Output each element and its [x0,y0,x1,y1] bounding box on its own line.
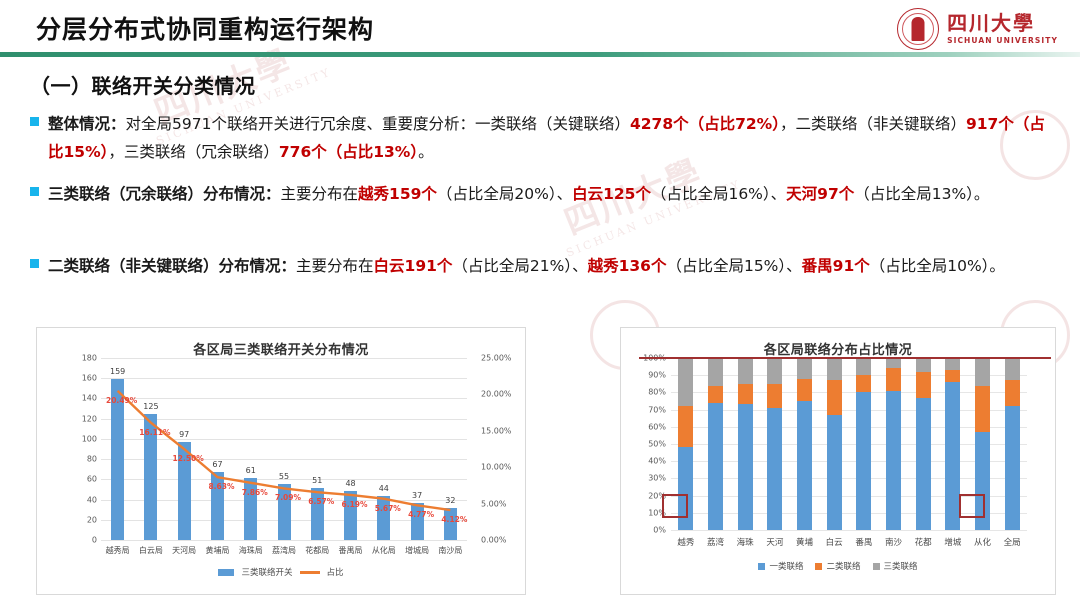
stack-segment-一类联络 [738,404,753,530]
stack-segment-二类联络 [1005,380,1020,406]
bullet-run: 主要分布在 [281,185,359,203]
y-axis-tick-label: 80 [87,455,97,464]
y-axis-tick-label: 140 [82,394,97,403]
stack-segment-二类联络 [767,384,782,408]
bullet-run: ，三类联络（冗余联络） [108,143,279,161]
bullet-item: 三类联络（冗余联络）分布情况：主要分布在越秀159个（占比全局20%）、白云12… [30,180,1050,208]
logo-name-cn: 四川大學 [947,13,1058,34]
x-axis-tick-label: 天河 [766,536,783,548]
stack-segment-二类联络 [827,380,842,414]
y-axis-tick-label: 60 [87,475,97,484]
line-value-label: 7.86% [242,488,268,497]
bullet-emphasis: 越秀136个 [588,257,667,275]
stack-segment-三类联络 [856,358,871,375]
stack-segment-三类联络 [975,358,990,386]
bullet-run: （占比全局21%）、 [452,257,587,275]
chart-title-left: 各区局三类联络开关分布情况 [37,339,525,358]
x-axis-tick-label: 从化 [974,536,991,548]
x-axis-tick-label: 黄埔局 [205,545,229,556]
stack-segment-一类联络 [827,415,842,530]
chart-legend-left: 三类联络开关 占比 [37,566,525,578]
stack-segment-三类联络 [708,358,723,386]
chart-card-left: 各区局三类联络开关分布情况 0204060801001201401601800.… [36,327,526,595]
y-axis-tick-label: 50% [648,440,666,449]
bullet-run: （占比全局16%）、 [651,185,786,203]
legend-label: 一类联络 [769,560,803,572]
x-axis-tick-label: 增城局 [405,545,429,556]
x-axis-tick-label: 越秀 [677,536,694,548]
stack-segment-三类联络 [767,358,782,384]
legend-item-一类联络[interactable]: 一类联络 [758,560,803,572]
stack-segment-三类联络 [945,358,960,370]
x-axis-tick-label: 荔湾局 [272,545,296,556]
gridline [671,392,1027,393]
combo-chart-plot-area: 0204060801001201401601800.00%5.00%10.00%… [101,358,467,540]
y-axis-tick-label: 70% [648,405,666,414]
section-heading: （一）联络开关分类情况 [30,70,256,99]
bullet-square-icon [30,259,39,268]
stacked-column-全局[interactable] [1005,358,1020,530]
line-value-label: 4.77% [408,510,434,519]
y-axis-tick-label: 30% [648,474,666,483]
gridline [671,444,1027,445]
x-axis-tick-label: 番禺局 [339,545,363,556]
bullet-emphasis: 776个（占比13%） [279,143,418,161]
stacked-column-荔湾[interactable] [708,358,723,530]
stack-segment-一类联络 [856,392,871,530]
bullet-run: （占比全局20%）、 [437,185,572,203]
gridline [671,530,1027,531]
x-axis-tick-label: 南沙局 [438,545,462,556]
bullet-text-2: 二类联络（非关键联络）分布情况：主要分布在白云191个（占比全局21%）、越秀1… [48,252,1005,280]
legend-item-三类联络[interactable]: 三类联络 [873,560,918,572]
stack-segment-一类联络 [1005,406,1020,530]
y-axis-tick-label: 40% [648,457,666,466]
y-axis-tick-label: 40 [87,495,97,504]
reference-line-100 [639,357,1051,359]
bullet-emphasis: 天河97个 [786,185,854,203]
stack-segment-二类联络 [886,368,901,390]
x-axis-tick-label: 从化局 [372,545,396,556]
stack-segment-一类联络 [797,401,812,530]
gridline [671,478,1027,479]
secondary-y-axis-tick-label: 25.00% [481,354,512,363]
bullet-square-icon [30,117,39,126]
bullet-item: 整体情况：对全局5971个联络开关进行冗余度、重要度分析：一类联络（关键联络）4… [30,110,1050,166]
bullet-item: 二类联络（非关键联络）分布情况：主要分布在白云191个（占比全局21%）、越秀1… [30,252,1050,280]
stack-segment-二类联络 [916,372,931,398]
stacked-column-海珠[interactable] [738,358,753,530]
stacked-chart-plot-area: 0%10%20%30%40%50%60%70%80%90%100%越秀荔湾海珠天… [671,358,1027,530]
bullet-emphasis: 白云125个 [572,185,651,203]
stack-segment-三类联络 [827,358,842,380]
slide-canvas: 四川大學 SICHUAN UNIVERSITY 四川大學 SICHUAN UNI… [0,0,1080,608]
header-divider [0,52,1080,57]
legend-swatch-bar [218,569,234,576]
stack-segment-二类联络 [945,370,960,382]
stack-segment-二类联络 [738,384,753,405]
legend-item-二类联络[interactable]: 二类联络 [815,560,860,572]
x-axis-tick-label: 南沙 [885,536,902,548]
y-axis-tick-label: 0 [92,536,97,545]
gridline [671,410,1027,411]
stack-segment-二类联络 [797,379,812,401]
chart-legend-right: 一类联络二类联络三类联络 [621,560,1055,572]
bullet-emphasis: 白云191个 [374,257,453,275]
legend-swatch [815,563,822,570]
bullet-run: （占比全局13%）。 [854,185,989,203]
stack-segment-三类联络 [797,358,812,379]
line-value-label: 7.09% [275,493,301,502]
page-title: 分层分布式协同重构运行架构 [36,10,374,46]
legend-swatch [758,563,765,570]
y-axis-tick-label: 120 [82,414,97,423]
gridline [671,461,1027,462]
bullet-square-icon [30,187,39,196]
highlight-conghua-box [959,494,985,518]
line-value-label: 8.63% [208,482,234,491]
line-value-label: 16.11% [139,428,170,437]
stack-segment-二类联络 [708,386,723,403]
secondary-y-axis-tick-label: 5.00% [481,499,506,508]
university-logo: 四川大學 SICHUAN UNIVERSITY [897,7,1058,51]
secondary-y-axis-tick-label: 0.00% [481,536,506,545]
stack-segment-三类联络 [886,358,901,368]
stack-segment-一类联络 [708,403,723,530]
y-axis-tick-label: 90% [648,371,666,380]
legend-label-line: 占比 [327,566,344,578]
x-axis-tick-label: 全局 [1004,536,1021,548]
y-axis-tick-label: 60% [648,422,666,431]
line-value-label: 5.67% [375,504,401,513]
x-axis-tick-label: 花都 [915,536,932,548]
legend-label: 二类联络 [826,560,860,572]
line-value-label: 4.12% [441,515,467,524]
bullet-emphasis: 4278个（占比72%） [630,115,780,133]
stacked-column-白云[interactable] [827,358,842,530]
bullet-run: 主要分布在 [296,257,374,275]
bullet-run: （占比全局10%）。 [870,257,1005,275]
stack-segment-一类联络 [886,391,901,530]
bullet-text-1: 三类联络（冗余联络）分布情况：主要分布在越秀159个（占比全局20%）、白云12… [48,180,989,208]
stack-segment-一类联络 [767,408,782,530]
stacked-column-天河[interactable] [767,358,782,530]
x-axis-tick-label: 黄埔 [796,536,813,548]
stack-segment-三类联络 [678,358,693,406]
stacked-column-黄埔[interactable] [797,358,812,530]
line-value-label: 12.50% [173,454,204,463]
highlight-yuexiu-box [662,494,688,518]
x-axis-tick-label: 越秀局 [106,545,130,556]
stack-segment-二类联络 [975,386,990,432]
bullet-emphasis: 番禺91个 [802,257,870,275]
x-axis-tick-label: 增城 [944,536,961,548]
gridline [101,540,467,541]
chart-title-right: 各区局联络分布占比情况 [621,339,1055,358]
university-seal-icon [897,8,939,50]
line-value-label: 6.57% [308,497,334,506]
bullet-run: ，二类联络（非关键联络） [780,115,966,133]
legend-label: 三类联络 [884,560,918,572]
line-value-label: 20.49% [106,396,137,405]
bullet-emphasis: 越秀159个 [358,185,437,203]
chart-card-right: 各区局联络分布占比情况 0%10%20%30%40%50%60%70%80%90… [620,327,1056,595]
x-axis-tick-label: 白云 [826,536,843,548]
stack-segment-二类联络 [856,375,871,392]
stack-segment-一类联络 [916,398,931,530]
bullet-run: 。 [418,143,434,161]
y-axis-tick-label: 160 [82,374,97,383]
bullet-run: （占比全局15%）、 [666,257,801,275]
slide-header: 分层分布式协同重构运行架构 四川大學 SICHUAN UNIVERSITY [0,0,1080,58]
stack-segment-三类联络 [738,358,753,384]
legend-label-bar: 三类联络开关 [241,566,292,578]
secondary-y-axis-tick-label: 20.00% [481,390,512,399]
bullet-text-0: 整体情况：对全局5971个联络开关进行冗余度、重要度分析：一类联络（关键联络）4… [48,110,1050,166]
stacked-column-南沙[interactable] [886,358,901,530]
stacked-column-花都[interactable] [916,358,931,530]
x-axis-tick-label: 天河局 [172,545,196,556]
gridline [671,375,1027,376]
bullet-label: 三类联络（冗余联络）分布情况： [48,185,281,203]
legend-swatch-line [300,571,320,574]
secondary-y-axis-tick-label: 15.00% [481,426,512,435]
x-axis-tick-label: 番禺 [855,536,872,548]
legend-swatch [873,563,880,570]
line-value-label: 6.19% [342,500,368,509]
gridline [671,427,1027,428]
bullet-run: 对全局5971个联络开关进行冗余度、重要度分析：一类联络（关键联络） [126,115,630,133]
stack-segment-三类联络 [916,358,931,372]
stack-segment-二类联络 [678,406,693,447]
x-axis-tick-label: 海珠 [737,536,754,548]
x-axis-tick-label: 荔湾 [707,536,724,548]
logo-name-en: SICHUAN UNIVERSITY [947,36,1058,45]
bullet-label: 整体情况： [48,115,126,133]
y-axis-tick-label: 180 [82,354,97,363]
stacked-column-番禺[interactable] [856,358,871,530]
y-axis-tick-label: 0% [653,526,666,535]
bullet-label: 二类联络（非关键联络）分布情况： [48,257,296,275]
x-axis-tick-label: 海珠局 [239,545,263,556]
stack-segment-三类联络 [1005,358,1020,380]
y-axis-tick-label: 20 [87,515,97,524]
x-axis-tick-label: 花都局 [305,545,329,556]
secondary-y-axis-tick-label: 10.00% [481,463,512,472]
x-axis-tick-label: 白云局 [139,545,163,556]
y-axis-tick-label: 100 [82,434,97,443]
y-axis-tick-label: 80% [648,388,666,397]
